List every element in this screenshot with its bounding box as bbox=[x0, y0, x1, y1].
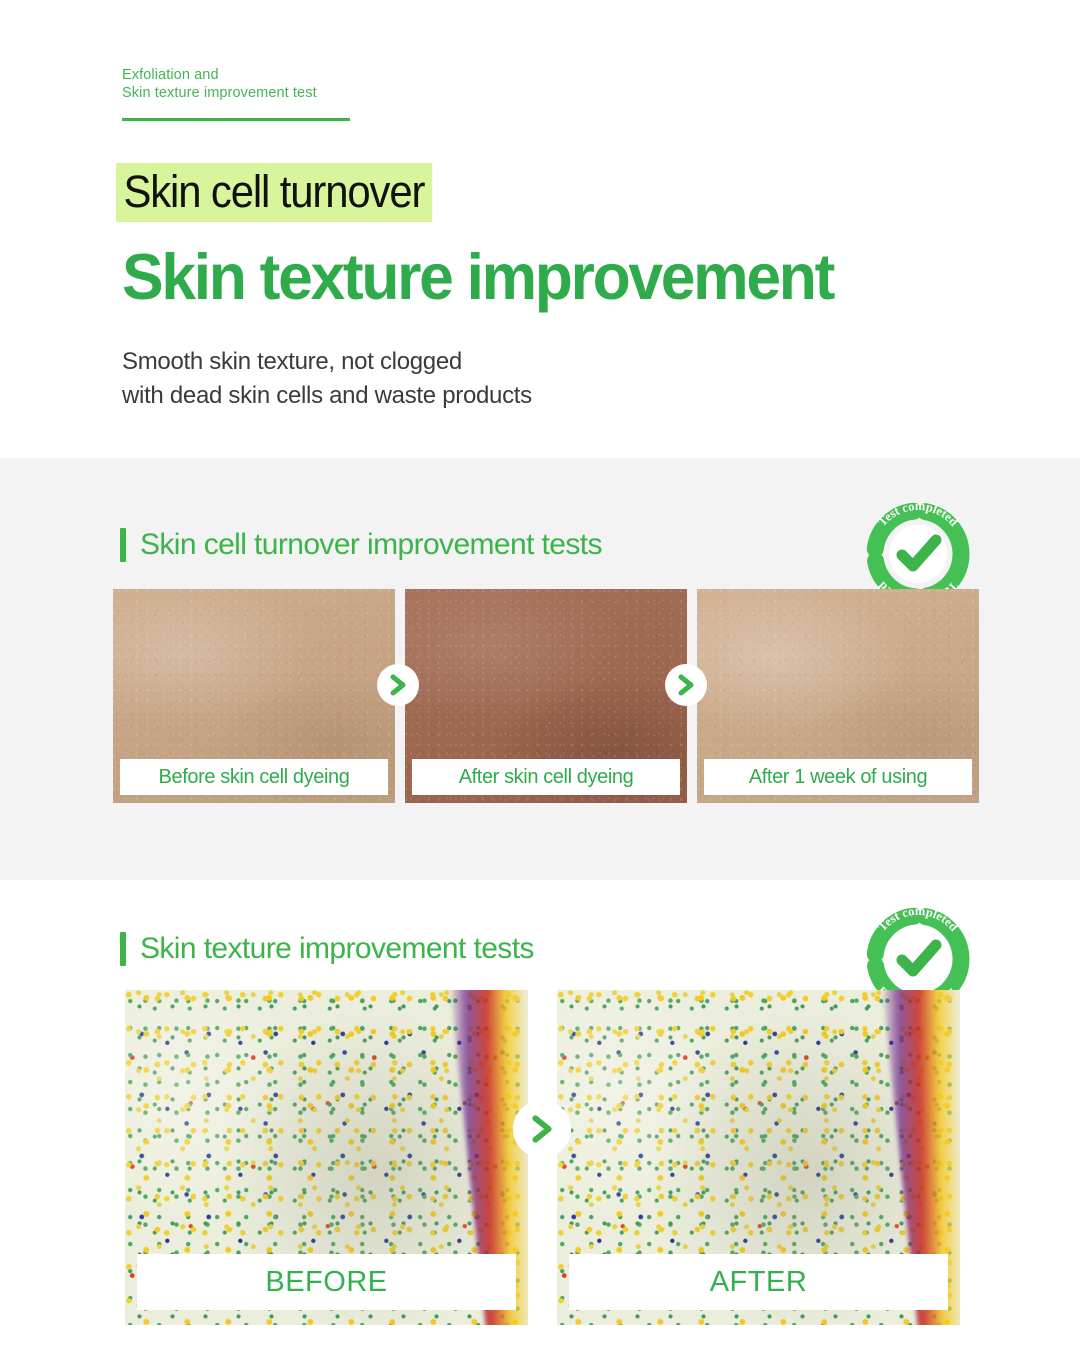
panel-caption-label: After skin cell dyeing bbox=[459, 766, 634, 789]
intro-section: Exfoliation and Skin texture improvement… bbox=[0, 0, 1080, 458]
highlight-title: Skin cell turnover bbox=[116, 163, 432, 222]
texture-image-after: AFTER bbox=[557, 990, 960, 1325]
texture-image-before: BEFORE bbox=[125, 990, 528, 1325]
turnover-heading-label: Skin cell turnover improvement tests bbox=[140, 528, 602, 562]
eyebrow-divider bbox=[122, 118, 350, 121]
test-completed-seal: Test completed Test completed bbox=[858, 498, 978, 603]
texture-heading-label: Skin texture improvement tests bbox=[140, 932, 534, 966]
panel-caption: After skin cell dyeing bbox=[412, 759, 680, 795]
turnover-panel: After skin cell dyeing bbox=[405, 589, 687, 803]
turnover-panel: After 1 week of using bbox=[697, 589, 979, 803]
highlight-title-wrap: Skin cell turnover bbox=[116, 163, 456, 222]
panel-caption: Before skin cell dyeing bbox=[120, 759, 388, 795]
panel-caption-label: After 1 week of using bbox=[749, 766, 927, 789]
eyebrow-text: Exfoliation and Skin texture improvement… bbox=[122, 66, 317, 102]
texture-caption-label: AFTER bbox=[710, 1266, 808, 1299]
chevron-right-icon bbox=[665, 664, 707, 706]
texture-caption: AFTER bbox=[569, 1254, 948, 1310]
texture-section-heading: Skin texture improvement tests bbox=[120, 932, 534, 966]
panel-caption-label: Before skin cell dyeing bbox=[159, 766, 350, 789]
turnover-panel-row: Before skin cell dyeing After skin cell … bbox=[113, 589, 979, 803]
page-title: Skin texture improvement bbox=[122, 239, 833, 315]
panel-caption: After 1 week of using bbox=[704, 759, 972, 795]
texture-caption: BEFORE bbox=[137, 1254, 516, 1310]
heading-accent-bar bbox=[120, 528, 126, 562]
page-subtitle: Smooth skin texture, not clogged with de… bbox=[122, 345, 532, 413]
chevron-right-icon bbox=[377, 664, 419, 706]
heading-accent-bar bbox=[120, 932, 126, 966]
turnover-panel: Before skin cell dyeing bbox=[113, 589, 395, 803]
chevron-right-icon bbox=[513, 1100, 571, 1158]
texture-caption-label: BEFORE bbox=[265, 1266, 387, 1299]
turnover-section-heading: Skin cell turnover improvement tests bbox=[120, 528, 602, 562]
